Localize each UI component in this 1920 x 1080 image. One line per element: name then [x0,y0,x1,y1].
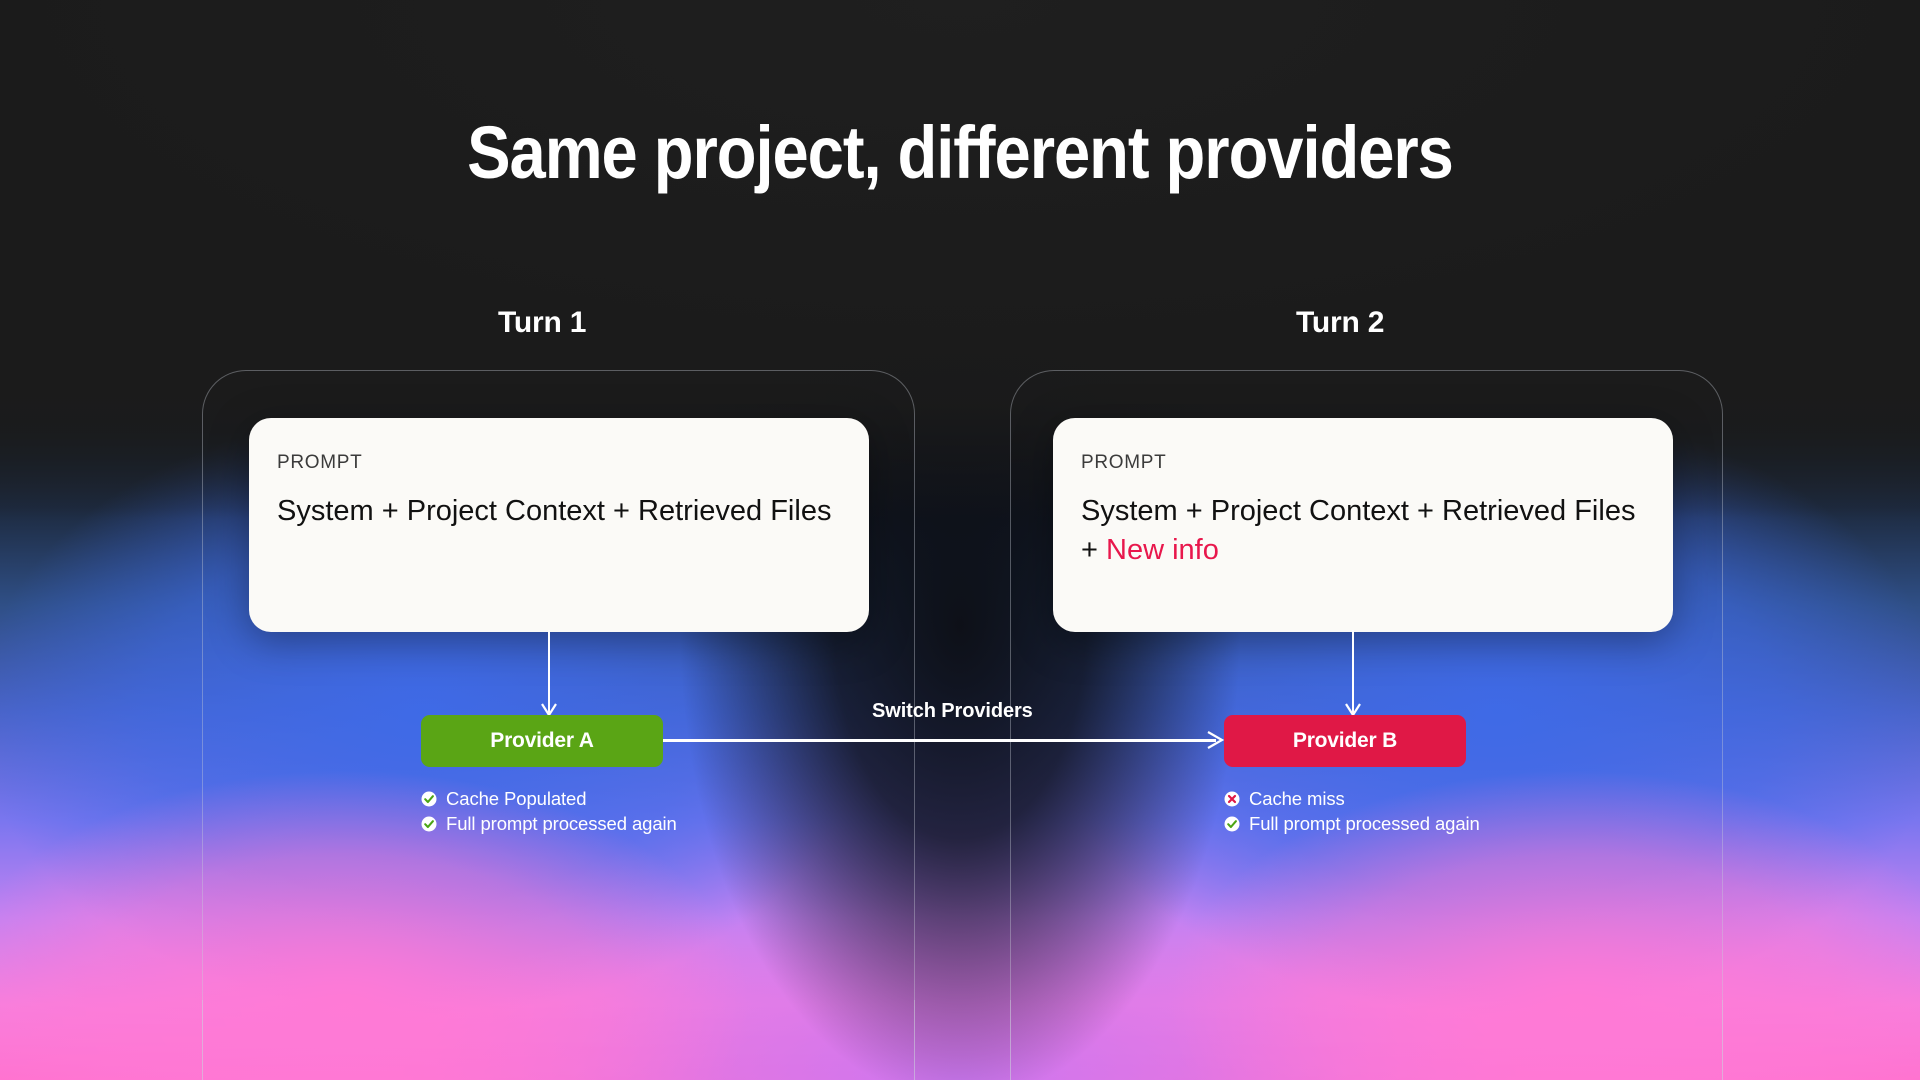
turn-1-flow-arrow [536,630,562,716]
status-label: Full prompt processed again [1249,813,1480,835]
turn-2-label: Turn 2 [1296,306,1384,340]
turn-2-status-list: Cache miss Full prompt processed again [1224,786,1480,836]
turn-2-panel-left-edge [1010,1000,1011,1080]
provider-b-chip[interactable]: Provider B [1224,715,1466,767]
provider-a-label: Provider A [490,729,593,753]
diagram-canvas: Same project, different providers Turn 1… [0,0,1920,1080]
turn-1-status-list: Cache Populated Full prompt processed ag… [421,786,677,836]
status-label: Cache Populated [446,788,586,810]
turn-2-prompt-card: PROMPT System + Project Context + Retrie… [1053,418,1673,632]
page-title: Same project, different providers [115,110,1805,195]
prompt-kicker: PROMPT [277,452,841,474]
turn-1-panel-left-edge [202,1000,203,1080]
switch-providers-label: Switch Providers [872,700,1033,723]
status-row: Full prompt processed again [421,811,677,836]
prompt-highlight: New info [1106,534,1219,566]
switch-providers-line [663,739,1216,742]
status-row: Full prompt processed again [1224,811,1480,836]
prompt-body: System + Project Context + Retrieved Fil… [277,492,841,531]
turn-2-flow-arrow [1340,630,1366,716]
turn-1-label: Turn 1 [498,306,586,340]
check-circle-icon [1224,816,1240,832]
check-circle-icon [421,816,437,832]
provider-a-chip[interactable]: Provider A [421,715,663,767]
status-label: Full prompt processed again [446,813,677,835]
status-row: Cache Populated [421,786,677,811]
prompt-text: System + Project Context + Retrieved Fil… [277,495,831,527]
prompt-kicker: PROMPT [1081,452,1645,474]
arrow-head-right-icon [1206,730,1226,750]
prompt-body: System + Project Context + Retrieved Fil… [1081,492,1645,570]
turn-2-panel-right-edge [1722,1000,1723,1080]
turn-1-prompt-card: PROMPT System + Project Context + Retrie… [249,418,869,632]
provider-b-label: Provider B [1293,729,1397,753]
check-circle-icon [421,791,437,807]
x-circle-icon [1224,791,1240,807]
status-row: Cache miss [1224,786,1480,811]
status-label: Cache miss [1249,788,1345,810]
turn-1-panel-right-edge [914,1000,915,1080]
